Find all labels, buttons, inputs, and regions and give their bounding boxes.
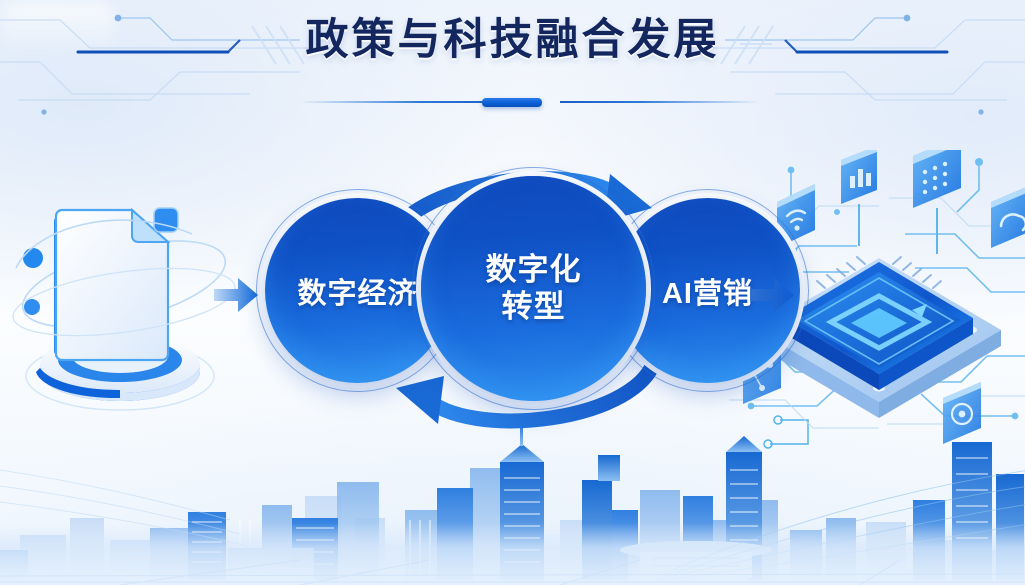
- cloud-badge: [991, 186, 1025, 248]
- page-title-text: 政策与科技融合发展: [306, 18, 720, 64]
- grid-badge: [913, 150, 961, 254]
- poster-canvas: 政策与科技融合发展: [0, 0, 1025, 585]
- stage-label-line-2: 转型: [502, 289, 566, 324]
- chart-badge: [841, 150, 877, 246]
- target-badge: [943, 382, 981, 444]
- title-rule-dash: [482, 98, 542, 107]
- stage-label-line-1: 数字化: [486, 252, 582, 287]
- arrow-right-icon: [212, 275, 260, 315]
- arrow-right-icon: [748, 275, 796, 315]
- stage-label: 数字经济: [297, 270, 417, 312]
- policy-document-icon: [2, 176, 247, 421]
- stage-label: 数字化 转型: [486, 252, 582, 325]
- stage-digital-transformation[interactable]: 数字化 转型: [421, 176, 646, 401]
- page-title: 政策与科技融合发展: [0, 18, 1025, 64]
- title-rule-right: [560, 101, 760, 103]
- title-rule-left: [300, 101, 500, 103]
- stage-label: AI营销: [662, 270, 753, 312]
- title-underline: [0, 98, 1025, 106]
- process-stage-group: 数字经济 数字化 转型 AI营销: [255, 150, 775, 440]
